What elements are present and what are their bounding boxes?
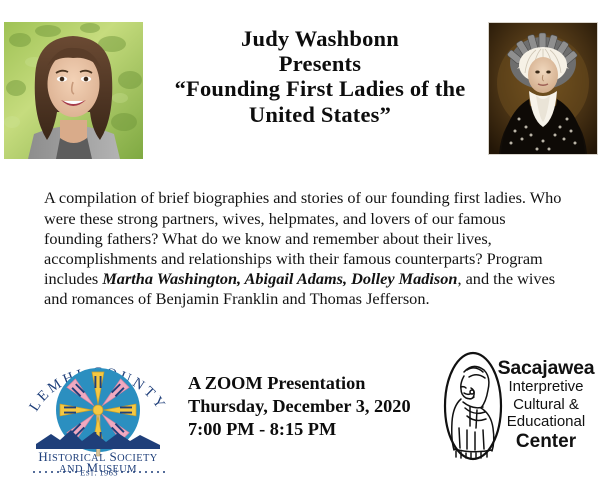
- first-lady-portrait-image: [489, 23, 597, 154]
- sacajawea-educational: Educational: [497, 413, 595, 431]
- featured-first-ladies: Martha Washington, Abigail Adams, Dolley…: [102, 269, 457, 288]
- event-format: A ZOOM Presentation: [188, 372, 438, 395]
- title-line-program-2: United States”: [150, 102, 490, 128]
- flyer-footer: LEMHI COUNTY: [0, 340, 600, 480]
- title-line-program-1: “Founding First Ladies of the: [150, 76, 490, 102]
- presenter-photo-image: [4, 22, 143, 159]
- flyer-header: Judy Washbonn Presents “Founding First L…: [0, 0, 600, 168]
- sacajawea-figure-icon: [443, 350, 503, 462]
- event-time: 7:00 PM - 8:15 PM: [188, 418, 438, 441]
- lemhi-established-text: EST. 1963: [80, 468, 118, 478]
- lemhi-county-logo: LEMHI COUNTY: [18, 348, 178, 474]
- sacajawea-center-logo: Sacajawea Interpretive Cultural & Educat…: [443, 350, 595, 470]
- event-date: Thursday, December 3, 2020: [188, 395, 438, 418]
- sacajawea-center: Center: [497, 431, 595, 452]
- event-details: A ZOOM Presentation Thursday, December 3…: [188, 372, 438, 441]
- sacajawea-cultural: Cultural &: [497, 396, 595, 414]
- presenter-photo: [4, 22, 143, 159]
- program-description: A compilation of brief biographies and s…: [44, 188, 564, 309]
- flyer-page: Judy Washbonn Presents “Founding First L…: [0, 0, 600, 480]
- lemhi-county-logo-image: LEMHI COUNTY: [18, 348, 178, 474]
- lemhi-established-band: EST. 1963: [18, 466, 178, 478]
- first-lady-portrait: [488, 22, 598, 155]
- sacajawea-logo-text: Sacajawea Interpretive Cultural & Educat…: [497, 358, 595, 452]
- sacajawea-interpretive: Interpretive: [497, 378, 595, 396]
- title-line-presenter: Judy Washbonn: [150, 26, 490, 51]
- flyer-title-block: Judy Washbonn Presents “Founding First L…: [150, 26, 490, 128]
- title-line-presents: Presents: [150, 51, 490, 76]
- sacajawea-name: Sacajawea: [497, 358, 595, 378]
